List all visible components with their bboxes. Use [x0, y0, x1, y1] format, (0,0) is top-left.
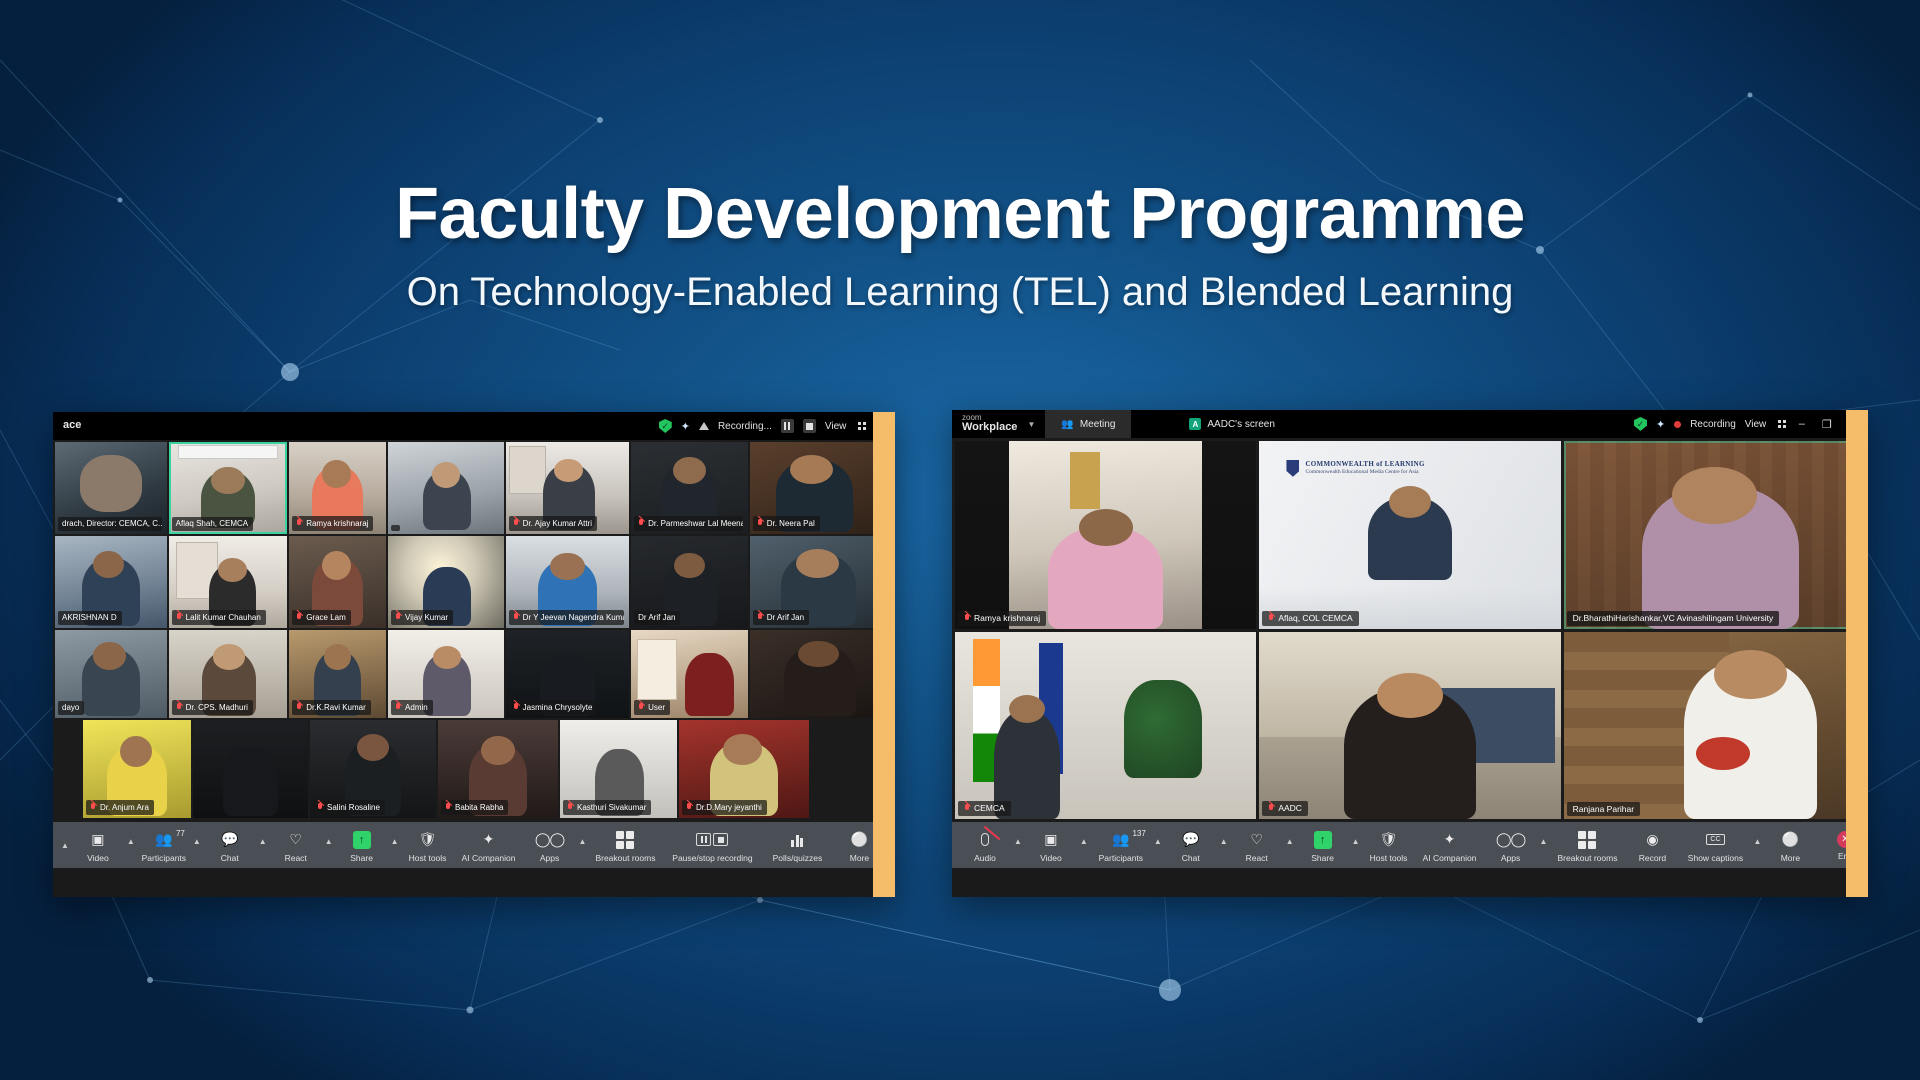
- captions-options-caret-icon[interactable]: ▲: [1751, 837, 1763, 846]
- mic-muted-icon: [638, 703, 645, 712]
- chat-options-caret-icon[interactable]: ▲: [1218, 837, 1230, 846]
- audio-options-caret-icon[interactable]: ▲: [1012, 837, 1024, 846]
- col-crest-icon: [1286, 460, 1299, 477]
- participant-name: Ranjana Parihar: [1567, 802, 1640, 817]
- participant-name: Jasmina Chrysolyte: [509, 700, 598, 715]
- toolbar-button-ai-companion[interactable]: ✦ AI Companion: [455, 828, 523, 863]
- breakout-rooms-icon: [616, 831, 634, 849]
- participant-name: Grace Lam: [292, 610, 351, 625]
- toolbar-button-video[interactable]: ▣ Video: [1024, 828, 1078, 863]
- participant-tile[interactable]: Dr.BharathiHarishankar,VC Avinashilingam…: [1564, 441, 1865, 629]
- video-options-caret-icon[interactable]: ▲: [1078, 837, 1090, 846]
- participant-tile[interactable]: drach, Director: CEMCA, C...: [55, 442, 167, 534]
- grid-icon[interactable]: [858, 422, 866, 430]
- participant-tile[interactable]: Dr. Ajay Kumar Attri: [506, 442, 630, 534]
- left-window-brand: ace: [53, 412, 89, 440]
- toolbar-button-host-tools[interactable]: 🛡 Host tools: [401, 828, 455, 863]
- recording-indicator-icon: [1674, 421, 1681, 428]
- slide-org-subtitle: Commonwealth Educational Media Centre fo…: [1305, 469, 1424, 475]
- toolbar-button-record[interactable]: ◉ Record: [1625, 828, 1679, 863]
- participant-tile[interactable]: Kasthuri Sivakumar: [560, 720, 677, 818]
- toolbar-label: Share: [1311, 853, 1334, 863]
- participant-name: Dr. Parmeshwar Lal Meena: [634, 516, 743, 531]
- shield-host-icon: 🛡: [1380, 830, 1398, 850]
- page-subtitle: On Technology-Enabled Learning (TEL) and…: [0, 270, 1920, 315]
- toolbar-label: Apps: [540, 853, 559, 863]
- apps-options-caret-icon[interactable]: ▲: [577, 837, 589, 846]
- heart-icon: ♡: [289, 830, 302, 850]
- chat-options-caret-icon[interactable]: ▲: [257, 837, 269, 846]
- recording-indicator-icon: [699, 422, 709, 430]
- participant-name: Dr Arif Jan: [753, 610, 809, 625]
- pause-stop-recording-icon: [696, 833, 728, 846]
- mic-muted-icon: [176, 613, 183, 622]
- ai-sparkle-icon[interactable]: ✦: [1656, 418, 1665, 431]
- apps-icon: ◯◯: [1496, 830, 1525, 850]
- zoom-window-gallery[interactable]: ace ✓ ✦ Recording... View –: [53, 412, 895, 897]
- participant-name: Aflaq, COL CEMCA: [1262, 611, 1358, 626]
- participants-icon: 👥: [1112, 830, 1129, 850]
- participant-tile[interactable]: Ranjana Parihar: [1564, 632, 1865, 820]
- toolbar-button-host-tools[interactable]: 🛡 Host tools: [1362, 828, 1416, 863]
- participant-tile[interactable]: AKRISHNAN D: [55, 536, 167, 628]
- tab-shared-screen[interactable]: A AADC's screen: [1131, 410, 1291, 438]
- toolbar-button-pause-stop-recording[interactable]: Pause/stop recording: [662, 828, 762, 863]
- toolbar-button-react[interactable]: ♡ React: [1230, 828, 1284, 863]
- participant-tile-shared-slide[interactable]: COMMONWEALTH of LEARNING Commonwealth Ed…: [1259, 441, 1560, 629]
- participant-tile[interactable]: [388, 442, 504, 534]
- participant-name: User: [634, 700, 670, 715]
- participant-tile[interactable]: Aflaq Shah, CEMCA: [169, 442, 288, 534]
- toolbar-label: Show captions: [1688, 853, 1743, 863]
- participant-name: dayo: [58, 701, 84, 715]
- chat-bubble-icon: 💬: [221, 830, 238, 850]
- more-ellipsis-icon: ⚪: [851, 830, 868, 850]
- share-options-caret-icon[interactable]: ▲: [389, 837, 401, 846]
- participant-tile[interactable]: Dr Arif Jan: [750, 536, 893, 628]
- participant-name: Dr Y Jeevan Nagendra Kumar: [509, 610, 625, 625]
- participant-tile[interactable]: Dr. CPS. Madhuri: [169, 630, 288, 718]
- grid-icon[interactable]: [1778, 420, 1786, 428]
- recording-status-label: Recording: [1690, 419, 1736, 430]
- participant-tile[interactable]: Jasmina Chrysolyte: [506, 630, 630, 718]
- toolbar-label: React: [285, 853, 307, 863]
- mic-muted-icon: [395, 703, 402, 712]
- participant-name: Dr.K.Ravi Kumar: [292, 700, 371, 715]
- participant-tile[interactable]: [750, 630, 893, 718]
- mic-muted-icon: [1268, 614, 1275, 623]
- toolbar-label: Polls/quizzes: [773, 853, 823, 863]
- mic-muted-icon: [513, 519, 520, 528]
- participant-tile[interactable]: Dr.D.Mary jeyanthi: [679, 720, 809, 818]
- participants-icon: 👥: [155, 830, 172, 850]
- video-options-caret-icon[interactable]: ▲: [125, 837, 137, 846]
- participant-tile[interactable]: Dr Arif Jan: [631, 536, 748, 628]
- toolbar-button-breakout-rooms[interactable]: Breakout rooms: [1549, 828, 1625, 863]
- toolbar-label: Breakout rooms: [595, 853, 655, 863]
- left-brand-label: ace: [63, 420, 81, 432]
- participant-tile[interactable]: Vijay Kumar: [388, 536, 504, 628]
- participant-name: Babita Rabha: [441, 800, 508, 815]
- participant-name: AADC: [1262, 801, 1308, 816]
- chevron-down-icon[interactable]: ▼: [1027, 420, 1035, 429]
- share-options-caret-icon[interactable]: ▲: [1350, 837, 1362, 846]
- tab-label: Meeting: [1080, 419, 1116, 430]
- participant-tile[interactable]: Babita Rabha: [438, 720, 558, 818]
- gallery-row: Dr. Anjum Ara Salini Rosaline: [55, 720, 893, 818]
- right-gallery-grid: Ramya krishnaraj COMMONWEALTH of LEARNIN…: [952, 438, 1868, 822]
- participant-name: Lalit Kumar Chauhan: [172, 610, 266, 625]
- participant-tile[interactable]: Lalit Kumar Chauhan: [169, 536, 288, 628]
- participant-name: Dr Arif Jan: [634, 611, 680, 625]
- right-titlebar-controls: ✓ ✦ Recording View – ❐ ✕: [1634, 417, 1868, 431]
- share-app-icon: A: [1189, 418, 1201, 430]
- participant-tile[interactable]: Dr. Parmeshwar Lal Meena: [631, 442, 748, 534]
- toolbar-button-chat[interactable]: 💬 Chat: [203, 828, 257, 863]
- mic-muted-icon: [296, 613, 303, 622]
- toolbar-label: More: [1781, 853, 1800, 863]
- participant-tile[interactable]: AADC: [1259, 632, 1560, 820]
- mic-muted-icon: [757, 519, 764, 528]
- tab-meeting[interactable]: 👥 Meeting: [1045, 410, 1131, 438]
- toolbar-label: Pause/stop recording: [672, 853, 752, 863]
- more-ellipsis-icon: ⚪: [1782, 830, 1799, 850]
- participants-icon: 👥: [1061, 419, 1073, 430]
- toolbar-button-ai-companion[interactable]: ✦ AI Companion: [1416, 828, 1484, 863]
- participant-name: Dr. CPS. Madhuri: [172, 700, 253, 715]
- accent-strip-right: [1846, 410, 1868, 897]
- toolbar-label: Record: [1639, 853, 1666, 863]
- toolbar-button-participants[interactable]: 77 👥 Participants: [137, 828, 191, 863]
- mic-muted-icon: [513, 613, 520, 622]
- left-gallery-grid: drach, Director: CEMCA, C... Aflaq Shah,…: [53, 440, 895, 822]
- participant-name: drach, Director: CEMCA, C...: [58, 517, 162, 531]
- mic-muted-icon: [513, 703, 520, 712]
- participants-count-badge: 137: [1132, 829, 1145, 838]
- participant-tile[interactable]: Dr. Anjum Ara: [83, 720, 191, 818]
- toolbar-button-share[interactable]: ↑ Share: [335, 828, 389, 863]
- col-slide-content: COMMONWEALTH of LEARNING Commonwealth Ed…: [1259, 441, 1560, 629]
- toolbar-label: Participants: [1099, 853, 1143, 863]
- participants-options-caret-icon[interactable]: ▲: [1152, 837, 1164, 846]
- toolbar-label: Apps: [1501, 853, 1520, 863]
- toolbar-button-more[interactable]: ⚪ More: [1763, 828, 1817, 863]
- ai-sparkle-icon: ✦: [1444, 830, 1456, 850]
- mic-muted-icon: [686, 803, 693, 812]
- participant-tile[interactable]: Dr.K.Ravi Kumar: [289, 630, 386, 718]
- participant-tile[interactable]: Admin: [388, 630, 504, 718]
- mic-muted-icon: [757, 613, 764, 622]
- right-window-titlebar: zoom Workplace ▼ 👥 Meeting A AADC's scre…: [952, 410, 1868, 438]
- gallery-row: drach, Director: CEMCA, C... Aflaq Shah,…: [55, 442, 893, 534]
- participant-name: Ramya krishnaraj: [292, 516, 373, 531]
- participant-name: Dr.BharathiHarishankar,VC Avinashilingam…: [1567, 611, 1780, 626]
- view-label[interactable]: View: [1745, 419, 1767, 430]
- toolbar-label: Chat: [221, 853, 239, 863]
- toolbar-label: AI Companion: [462, 853, 516, 863]
- shield-host-icon: 🛡: [419, 830, 437, 850]
- brand-big-label: Workplace: [962, 422, 1017, 434]
- participant-name: Dr. Anjum Ara: [86, 800, 154, 815]
- view-label[interactable]: View: [825, 421, 847, 432]
- security-shield-icon[interactable]: ✓: [659, 419, 672, 433]
- accent-strip-left: [873, 412, 895, 897]
- mic-muted-icon: [964, 804, 971, 813]
- participant-tile[interactable]: Ramya krishnaraj: [955, 441, 1256, 629]
- participant-name: Aflaq Shah, CEMCA: [172, 517, 253, 531]
- mic-muted-icon: [395, 613, 402, 622]
- toolbar-button-participants[interactable]: 137 👥 Participants: [1090, 828, 1152, 863]
- toolbar-label: AI Companion: [1423, 853, 1477, 863]
- toolbar-label: React: [1246, 853, 1268, 863]
- restore-button[interactable]: ❐: [1818, 418, 1836, 431]
- participant-name: Dr. Ajay Kumar Attri: [509, 516, 597, 531]
- participant-name: Salini Rosaline: [313, 800, 385, 815]
- mic-muted-icon: [1268, 804, 1275, 813]
- toolbar-label: Breakout rooms: [1557, 853, 1617, 863]
- participant-tile[interactable]: Dr. Neera Pal: [750, 442, 893, 534]
- right-meeting-toolbar[interactable]: Audio ▲ ▣ Video ▲ 137 👥 Participants ▲ 💬…: [952, 822, 1868, 868]
- participant-name: Admin: [391, 700, 433, 715]
- share-screen-icon: ↑: [1314, 831, 1332, 849]
- toolbar-button-show-captions[interactable]: CC Show captions: [1679, 828, 1751, 863]
- participant-name: Dr. Neera Pal: [753, 516, 820, 531]
- record-circle-icon: ◉: [1646, 830, 1658, 850]
- toolbar-button-polls-quizzes[interactable]: Polls/quizzes: [762, 828, 832, 863]
- toolbar-label: Chat: [1182, 853, 1200, 863]
- breakout-rooms-icon: [1578, 831, 1596, 849]
- toolbar-label: Participants: [142, 853, 186, 863]
- toolbar-label: Video: [1040, 853, 1062, 863]
- heart-icon: ♡: [1250, 830, 1263, 850]
- security-shield-icon[interactable]: ✓: [1634, 417, 1647, 431]
- mic-muted-icon: [296, 519, 303, 528]
- banner-text-block: Faculty Development Programme On Technol…: [0, 178, 1920, 315]
- pause-recording-button[interactable]: [781, 419, 794, 433]
- mic-muted-icon: [567, 803, 574, 812]
- toolbar-button-video[interactable]: ▣ Video: [71, 828, 125, 863]
- left-titlebar-controls: ✓ ✦ Recording... View –: [659, 419, 895, 433]
- participant-name: Ramya krishnaraj: [958, 611, 1046, 626]
- participants-options-caret-icon[interactable]: ▲: [191, 837, 203, 846]
- stop-recording-button[interactable]: [803, 419, 816, 433]
- mic-muted-icon: [964, 614, 971, 623]
- ai-sparkle-icon[interactable]: ✦: [681, 420, 690, 433]
- toolbar-label: Audio: [974, 853, 996, 863]
- toolbar-button-chat[interactable]: 💬 Chat: [1164, 828, 1218, 863]
- poster-stage: Faculty Development Programme On Technol…: [0, 0, 1920, 1080]
- chat-bubble-icon: 💬: [1182, 830, 1199, 850]
- toolbar-label: Host tools: [409, 853, 447, 863]
- zoom-window-meeting[interactable]: zoom Workplace ▼ 👥 Meeting A AADC's scre…: [952, 410, 1868, 897]
- left-meeting-toolbar[interactable]: ▲ ▣ Video ▲ 77 👥 Participants ▲ 💬 Chat ▲…: [53, 822, 895, 868]
- toolbar-button-share[interactable]: ↑ Share: [1296, 828, 1350, 863]
- toolbar-button-react[interactable]: ♡ React: [269, 828, 323, 863]
- apps-icon: ◯◯: [535, 830, 564, 850]
- tab-label: AADC's screen: [1207, 419, 1275, 430]
- participant-tile[interactable]: Salini Rosaline: [310, 720, 436, 818]
- react-options-caret-icon[interactable]: ▲: [323, 837, 335, 846]
- minimize-button[interactable]: –: [1795, 418, 1809, 430]
- mic-muted-icon: [90, 803, 97, 812]
- audio-options-caret-icon[interactable]: ▲: [59, 841, 71, 850]
- participant-name: [391, 525, 400, 531]
- toolbar-label: More: [850, 853, 869, 863]
- participant-tile[interactable]: Dr Y Jeevan Nagendra Kumar: [506, 536, 630, 628]
- mic-muted-icon: [317, 803, 324, 812]
- mic-muted-icon: [445, 803, 452, 812]
- react-options-caret-icon[interactable]: ▲: [1284, 837, 1296, 846]
- microphone-muted-icon: [981, 830, 989, 850]
- mic-muted-icon: [176, 703, 183, 712]
- participant-name: AKRISHNAN D: [58, 611, 122, 625]
- left-window-titlebar: ace ✓ ✦ Recording... View –: [53, 412, 895, 440]
- participant-tile[interactable]: User: [631, 630, 748, 718]
- participant-tile[interactable]: dayo: [55, 630, 167, 718]
- video-camera-icon: ▣: [1044, 830, 1057, 850]
- participant-tile[interactable]: [193, 720, 308, 818]
- video-camera-icon: ▣: [91, 830, 104, 850]
- participant-name: CEMCA: [958, 801, 1011, 816]
- apps-options-caret-icon[interactable]: ▲: [1538, 837, 1550, 846]
- slide-org-title: COMMONWEALTH of LEARNING: [1305, 460, 1424, 468]
- gallery-row: dayo Dr. CPS. Madhuri Dr.K.Ravi Kumar: [55, 630, 893, 718]
- mic-muted-icon: [638, 519, 645, 528]
- participant-name: Vijay Kumar: [391, 610, 453, 625]
- toolbar-button-audio[interactable]: Audio: [958, 828, 1012, 863]
- page-title: Faculty Development Programme: [0, 178, 1920, 250]
- gallery-row: AKRISHNAN D Lalit Kumar Chauhan: [55, 536, 893, 628]
- toolbar-label: Host tools: [1370, 853, 1408, 863]
- toolbar-label: Video: [87, 853, 109, 863]
- toolbar-button-apps[interactable]: ◯◯ Apps: [1484, 828, 1538, 863]
- participant-tile[interactable]: CEMCA: [955, 632, 1256, 820]
- mic-muted-icon: [296, 703, 303, 712]
- participants-count-badge: 77: [176, 829, 185, 838]
- toolbar-label: Share: [350, 853, 373, 863]
- participant-tile[interactable]: Ramya krishnaraj: [289, 442, 386, 534]
- share-screen-icon: ↑: [353, 831, 371, 849]
- participant-tile[interactable]: Grace Lam: [289, 536, 386, 628]
- recording-status-label: Recording...: [718, 421, 772, 432]
- participant-name: Kasthuri Sivakumar: [563, 800, 651, 815]
- zoom-workplace-brand: zoom Workplace: [952, 414, 1025, 434]
- toolbar-button-apps[interactable]: ◯◯ Apps: [523, 828, 577, 863]
- polls-bar-icon: [791, 833, 803, 847]
- ai-sparkle-icon: ✦: [483, 830, 495, 850]
- closed-captions-icon: CC: [1706, 834, 1724, 845]
- participant-name: Dr.D.Mary jeyanthi: [682, 800, 767, 815]
- toolbar-button-breakout-rooms[interactable]: Breakout rooms: [588, 828, 662, 863]
